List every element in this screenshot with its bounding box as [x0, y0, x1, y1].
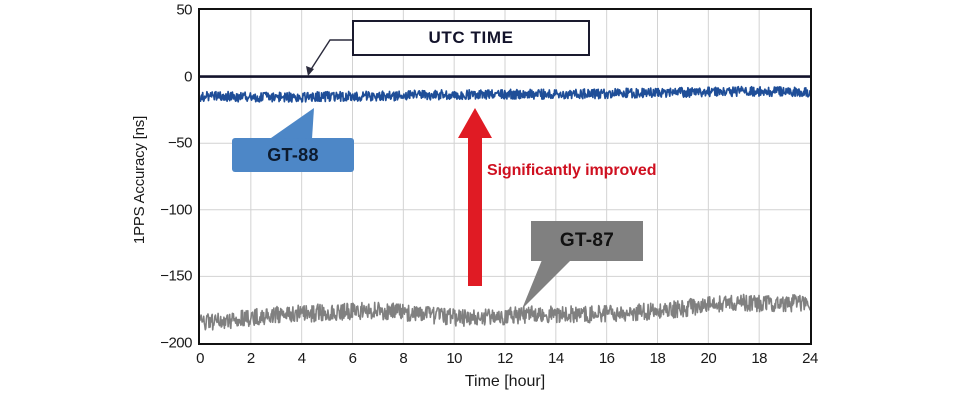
gt87-callout-tail-icon: [520, 255, 586, 311]
x-axis-title: Time [hour]: [198, 373, 812, 391]
x-axis-tick-label: 14: [548, 350, 564, 367]
x-axis-tick-label: 2: [247, 350, 255, 367]
utc-time-label-box: UTC TIME: [352, 20, 590, 56]
x-axis-tick-label: 12: [497, 350, 513, 367]
x-axis-tick-label: 0: [196, 350, 204, 367]
x-axis-tick-label: 6: [349, 350, 357, 367]
x-axis-tick-label: 4: [298, 350, 306, 367]
y-axis-tick-label: 0: [148, 68, 192, 85]
improvement-label: Significantly improved: [487, 162, 656, 180]
chart-figure: 1PPS Accuracy [ns] 500−50−100−150−200 02…: [0, 0, 973, 401]
y-axis-tick-label: −100: [148, 201, 192, 218]
x-axis-tick-label: 8: [399, 350, 407, 367]
x-axis-tick-label: 18: [650, 350, 666, 367]
y-axis-tick-labels: 500−50−100−150−200: [146, 0, 192, 401]
x-axis-tick-label: 20: [700, 350, 716, 367]
x-axis-tick-label: 16: [599, 350, 615, 367]
x-axis-tick-labels: 024681012141618201824: [0, 350, 973, 372]
y-axis-tick-label: −150: [148, 268, 192, 285]
x-axis-tick-label: 10: [446, 350, 462, 367]
y-axis-tick-label: −200: [148, 335, 192, 352]
y-axis-tick-label: −50: [148, 135, 192, 152]
x-axis-tick-label: 24: [802, 350, 818, 367]
y-axis-tick-label: 50: [148, 2, 192, 19]
improvement-arrow-icon: [455, 106, 495, 288]
x-axis-tick-label: 18: [751, 350, 767, 367]
gt88-callout-tail-icon: [268, 108, 318, 146]
